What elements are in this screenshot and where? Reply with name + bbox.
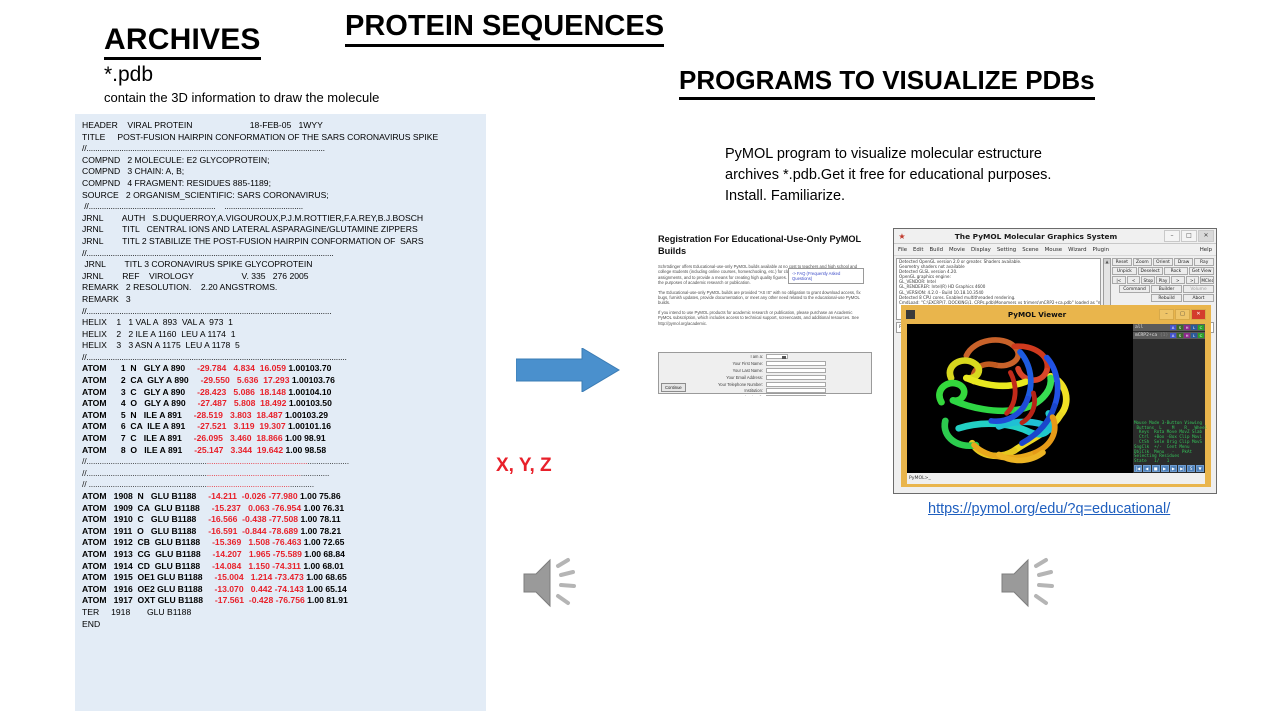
menu-setting[interactable]: Setting bbox=[997, 247, 1016, 253]
viewer-status-prompt[interactable]: PyMOL>_ bbox=[907, 473, 1205, 484]
object-toggle-h[interactable]: H bbox=[1184, 333, 1190, 338]
form-field-label: Comments (optional): bbox=[659, 395, 766, 396]
pdb-line: TER 1918 GLU B1188 bbox=[75, 607, 486, 619]
pdb-line: ATOM 1908 N GLU B1188 -14.211 -0.026 -77… bbox=[75, 491, 486, 503]
object-toggle-c[interactable]: C bbox=[1198, 325, 1204, 330]
pdb-line: ATOM 1910 C GLU B1188 -16.566 -0.438 -77… bbox=[75, 514, 486, 526]
pdb-line: REMARK 2 RESOLUTION. 2.20 ANGSTROMS. bbox=[75, 282, 486, 294]
pdb-line: ATOM 1 N GLY A 890 -29.784 4.834 16.059 … bbox=[75, 363, 486, 375]
pdb-line: HELIX 3 3 ASN A 1175 LEU A 1178 5 bbox=[75, 340, 486, 352]
pdb-atom-prefix: ATOM 3 C GLY A 890 bbox=[82, 387, 192, 397]
pdb-line: ATOM 6 CA ILE A 891 -27.521 3.119 19.307… bbox=[75, 421, 486, 433]
pdb-coordinates: -26.095 3.460 18.866 bbox=[189, 433, 283, 443]
form-text-input[interactable] bbox=[766, 395, 826, 396]
pdb-extension-label: *.pdb bbox=[104, 63, 153, 86]
pdb-line: // .....................................… bbox=[75, 479, 486, 491]
form-text-input[interactable] bbox=[766, 388, 826, 393]
pdb-atom-prefix: ATOM 6 CA ILE A 891 bbox=[82, 421, 192, 431]
registration-form-row: Your Last Name: bbox=[659, 368, 871, 374]
registration-title: Registration For Educational-Use-Only Py… bbox=[658, 234, 873, 257]
pdb-coordinates: -17.561 -0.428 -76.756 bbox=[210, 595, 305, 605]
pymol-button-get-view[interactable]: Get View bbox=[1189, 267, 1214, 275]
pymol-registration-screenshot: Registration For Educational-Use-Only Py… bbox=[625, 226, 891, 396]
menu-movie[interactable]: Movie bbox=[949, 247, 965, 253]
registration-paragraph-3: If you intend to use PyMOL products for … bbox=[658, 310, 863, 326]
object-toggle-a[interactable]: A bbox=[1170, 333, 1176, 338]
object-row[interactable]: allASHLC bbox=[1133, 324, 1205, 331]
pdb-line: REMARK 3 bbox=[75, 294, 486, 306]
viewer-window-controls[interactable]: – □ ✕ bbox=[1159, 309, 1206, 320]
pdb-atom-prefix: ATOM 1 N GLY A 890 bbox=[82, 363, 192, 373]
pdb-atom-prefix: ATOM 1911 O GLU B1188 bbox=[82, 526, 203, 536]
pdb-atom-prefix: ATOM 7 C ILE A 891 bbox=[82, 433, 189, 443]
maximize-icon[interactable]: □ bbox=[1181, 230, 1197, 242]
pdb-atom-prefix: ATOM 2 CA GLY A 890 bbox=[82, 375, 196, 385]
close-icon[interactable]: ✕ bbox=[1198, 230, 1214, 242]
viewer-titlebar: PyMOL Viewer – □ ✕ bbox=[904, 308, 1208, 321]
object-name: all bbox=[1133, 325, 1170, 330]
separator-dots-red: ........................................… bbox=[207, 468, 301, 478]
registration-form-row: I am a: bbox=[659, 354, 871, 360]
form-text-input[interactable] bbox=[766, 382, 826, 387]
pymol-button-play[interactable]: Play bbox=[1156, 276, 1170, 284]
pdb-line: JRNL AUTH S.DUQUERROY,A.VIGOUROUX,P.J.M.… bbox=[75, 213, 486, 225]
pdb-atom-suffix: 1.00 98.91 bbox=[283, 433, 326, 443]
flow-arrow bbox=[516, 348, 620, 392]
pdb-coordinates: -29.550 5.636 17.293 bbox=[196, 375, 290, 385]
viewer-title: PyMOL Viewer bbox=[915, 310, 1159, 319]
registration-form-row: Your First Name: bbox=[659, 361, 871, 367]
pdb-line: TITLE POST-FUSION HAIRPIN CONFORMATION O… bbox=[75, 132, 486, 144]
prev-frame-icon[interactable]: ◀ bbox=[1143, 465, 1151, 472]
pdb-line: JRNL REF VIROLOGY V. 335 276 2005 bbox=[75, 271, 486, 283]
separator-dots: //......................................… bbox=[82, 468, 207, 478]
play-icon[interactable]: ▶ bbox=[1161, 465, 1169, 472]
pdb-atom-suffix: 1.00 68.65 bbox=[304, 572, 347, 582]
archives-subtitle: contain the 3D information to draw the m… bbox=[104, 90, 379, 106]
pdb-line: ATOM 1914 CD GLU B1188 -14.084 1.150 -74… bbox=[75, 561, 486, 573]
pymol-viewer-window: PyMOL Viewer – □ ✕ bbox=[901, 305, 1211, 487]
settings-icon[interactable]: S bbox=[1187, 465, 1195, 472]
pymol-window-title: The PyMOL Molecular Graphics System bbox=[908, 232, 1164, 241]
role-select[interactable] bbox=[766, 354, 788, 359]
pdb-line: HELIX 1 1 VAL A 893 VAL A 973 1 bbox=[75, 317, 486, 329]
pdb-coordinates: -28.519 3.803 18.487 bbox=[189, 410, 283, 420]
menu-mouse[interactable]: Mouse bbox=[1045, 247, 1063, 253]
pdb-atom-suffix: 1.00103.29 bbox=[283, 410, 328, 420]
pdb-line: ATOM 1911 O GLU B1188 -16.591 -0.844 -78… bbox=[75, 526, 486, 538]
pymol-button-rebuild[interactable]: Rebuild bbox=[1151, 294, 1182, 302]
object-toggle-h[interactable]: H bbox=[1184, 325, 1190, 330]
pdb-line: HELIX 2 2 ILE A 1160 LEU A 1174 1 bbox=[75, 329, 486, 341]
pdb-line: //......................................… bbox=[75, 306, 486, 318]
registration-form-row: Your Telephone Number: bbox=[659, 381, 871, 387]
pdb-line: HEADER VIRAL PROTEIN 18-FEB-05 1WYY bbox=[75, 120, 486, 132]
pdb-coordinates: -14.207 1.965 -75.589 bbox=[208, 549, 302, 559]
pdb-line: //......................................… bbox=[75, 456, 486, 468]
pymol-button-volume[interactable]: Volume bbox=[1183, 285, 1214, 293]
pymol-button-gt[interactable]: >| bbox=[1186, 276, 1200, 284]
minimize-icon[interactable]: – bbox=[1164, 230, 1180, 242]
button-row: |<<StopPlay>>|MClear bbox=[1112, 276, 1214, 284]
object-toggle-l[interactable]: L bbox=[1191, 333, 1197, 338]
mouse-mode-help: Mouse Mode 3-Button Viewing Buttons L M … bbox=[1134, 421, 1204, 464]
faq-link[interactable]: -> FAQ (Frequently Asked Questions) bbox=[788, 268, 864, 284]
pdb-atom-suffix: 1.00 65.14 bbox=[304, 584, 347, 594]
registration-paragraph-2: The Educational-use-only PyMOL builds ar… bbox=[658, 290, 863, 306]
separator-dots-red: ...................................... bbox=[207, 479, 290, 489]
pdb-atom-prefix: ATOM 4 O GLY A 890 bbox=[82, 398, 193, 408]
pymol-button-command[interactable]: Command bbox=[1119, 285, 1150, 293]
pdb-line: ATOM 3 C GLY A 890 -28.423 5.086 18.148 … bbox=[75, 387, 486, 399]
pdb-atom-suffix: 1.00 98.58 bbox=[283, 445, 326, 455]
pdb-line: JRNL TITL 2 STABILIZE THE POST-FUSION HA… bbox=[75, 236, 486, 248]
pdb-line: ATOM 1912 CB GLU B1188 -15.369 1.508 -76… bbox=[75, 537, 486, 549]
pdb-atom-suffix: 1.00103.50 bbox=[286, 398, 331, 408]
pdb-line: COMPND 3 CHAIN: A, B; bbox=[75, 166, 486, 178]
pdb-atom-prefix: ATOM 1912 CB GLU B1188 bbox=[82, 537, 207, 547]
pymol-button-[interactable]: |< bbox=[1112, 276, 1126, 284]
pymol-logo-icon: ★ bbox=[896, 231, 908, 242]
pdb-coordinates: -29.784 4.834 16.059 bbox=[192, 363, 286, 373]
speaker-icon-right[interactable] bbox=[996, 552, 1068, 614]
registration-form[interactable]: I am a:Your First Name:Your Last Name:Yo… bbox=[658, 352, 872, 394]
separator-dots: // .....................................… bbox=[82, 479, 207, 489]
object-row[interactable]: mCRP2+ca (1)ASHLC bbox=[1133, 332, 1205, 339]
molecule-render-canvas[interactable] bbox=[907, 324, 1133, 473]
pdb-atom-suffix: 1.00 76.31 bbox=[301, 503, 344, 513]
menu-file[interactable]: File bbox=[898, 247, 907, 253]
pymol-titlebar: ★ The PyMOL Molecular Graphics System – … bbox=[894, 229, 1216, 244]
pymol-button-draw[interactable]: Draw bbox=[1174, 258, 1194, 266]
pdb-coordinates: -16.591 -0.844 -78.689 bbox=[203, 526, 298, 536]
pdb-atom-prefix: ATOM 1914 CD GLU B1188 bbox=[82, 561, 207, 571]
pdb-line: //......................................… bbox=[75, 201, 486, 213]
pdb-atom-prefix: ATOM 1913 CG GLU B1188 bbox=[82, 549, 208, 559]
pdb-line: //......................................… bbox=[75, 468, 486, 480]
pdb-atom-suffix: 1.00103.76 bbox=[289, 375, 334, 385]
pdb-line: SOURCE 2 ORGANISM_SCIENTIFIC: SARS CORON… bbox=[75, 190, 486, 202]
object-toggles[interactable]: ASHLC bbox=[1170, 333, 1204, 338]
form-field-label: I am a: bbox=[659, 354, 766, 359]
viewer-maximize-icon[interactable]: □ bbox=[1175, 309, 1190, 320]
pdb-atom-suffix: 1.00103.70 bbox=[286, 363, 331, 373]
pdb-coordinates: -15.237 0.063 -76.954 bbox=[207, 503, 301, 513]
button-row: UnpickDeselectRockGet View bbox=[1112, 267, 1214, 275]
pdb-line: ATOM 2 CA GLY A 890 -29.550 5.636 17.293… bbox=[75, 375, 486, 387]
pdb-atom-suffix: 1.00 68.84 bbox=[302, 549, 345, 559]
object-toggle-a[interactable]: A bbox=[1170, 325, 1176, 330]
programs-to-visualize-heading: PROGRAMS TO VISUALIZE PDBs bbox=[679, 66, 1095, 100]
registration-form-row: Comments (optional): bbox=[659, 395, 871, 396]
pdb-atom-suffix: 1.00 81.91 bbox=[305, 595, 348, 605]
form-text-input[interactable] bbox=[766, 361, 826, 366]
viewer-body: allASHLCmCRP2+ca (1)ASHLC Mouse Mode 3-B… bbox=[907, 324, 1205, 473]
pymol-button-[interactable]: < bbox=[1127, 276, 1141, 284]
pdb-line: COMPND 2 MOLECULE: E2 GLYCOPROTEIN; bbox=[75, 155, 486, 167]
pdb-coordinates: -13.070 0.442 -74.143 bbox=[210, 584, 304, 594]
pymol-button-mclear[interactable]: MClear bbox=[1200, 276, 1214, 284]
pdb-line: //......................................… bbox=[75, 352, 486, 364]
pdb-line: ATOM 1913 CG GLU B1188 -14.207 1.965 -75… bbox=[75, 549, 486, 561]
pdb-coordinates: -28.423 5.086 18.148 bbox=[192, 387, 286, 397]
pdb-coordinates: -16.566 -0.438 -77.508 bbox=[203, 514, 298, 524]
pdb-coordinates: -15.369 1.508 -76.463 bbox=[207, 537, 301, 547]
object-toggle-c[interactable]: C bbox=[1198, 333, 1204, 338]
pdb-file-panel: HEADER VIRAL PROTEIN 18-FEB-05 1WYYTITLE… bbox=[75, 114, 486, 711]
viewer-minimize-icon[interactable]: – bbox=[1159, 309, 1174, 320]
pdb-atom-suffix: 1.00104.10 bbox=[286, 387, 331, 397]
pymol-description-text: PyMOL program to visualize molecular est… bbox=[725, 144, 1055, 207]
object-toggle-l[interactable]: L bbox=[1191, 325, 1197, 330]
protein-sequences-heading: PROTEIN SEQUENCES bbox=[345, 11, 664, 47]
last-frame-icon[interactable]: ▶| bbox=[1178, 465, 1186, 472]
pymol-button-builder[interactable]: Builder bbox=[1151, 285, 1182, 293]
pdb-line: END bbox=[75, 619, 486, 631]
pymol-button-[interactable]: > bbox=[1171, 276, 1185, 284]
pdb-line: ATOM 7 C ILE A 891 -26.095 3.460 18.866 … bbox=[75, 433, 486, 445]
pdb-atom-prefix: ATOM 1916 OE2 GLU B1188 bbox=[82, 584, 210, 594]
pdb-atom-suffix: 1.00 72.65 bbox=[301, 537, 344, 547]
pdb-atom-prefix: ATOM 8 O ILE A 891 bbox=[82, 445, 189, 455]
pdb-atom-prefix: ATOM 1910 C GLU B1188 bbox=[82, 514, 203, 524]
pdb-line: JRNL TITL 3 CORONAVIRUS SPIKE GLYCOPROTE… bbox=[75, 259, 486, 271]
stop-icon[interactable]: ■ bbox=[1152, 465, 1160, 472]
registration-form-row: Your Email Address: bbox=[659, 375, 871, 381]
pdb-atom-suffix: 1.00 78.11 bbox=[298, 514, 341, 524]
pdb-atom-prefix: ATOM 5 N ILE A 891 bbox=[82, 410, 189, 420]
menu-edit[interactable]: Edit bbox=[913, 247, 923, 253]
pymol-button-deselect[interactable]: Deselect bbox=[1138, 267, 1163, 275]
pdb-coordinates: -27.487 5.808 18.492 bbox=[193, 398, 287, 408]
pdb-line: //......................................… bbox=[75, 143, 486, 155]
speaker-icon-left[interactable] bbox=[518, 552, 590, 614]
pdb-atom-prefix: ATOM 1917 OXT GLU B1188 bbox=[82, 595, 210, 605]
pdb-atom-prefix: ATOM 1915 OE1 GLU B1188 bbox=[82, 572, 210, 582]
pymol-button-orient[interactable]: Orient bbox=[1153, 258, 1173, 266]
object-toggles[interactable]: ASHLC bbox=[1170, 325, 1204, 330]
scroll-up-icon[interactable]: ▲ bbox=[1104, 259, 1110, 264]
form-text-input[interactable] bbox=[766, 375, 826, 380]
form-text-input[interactable] bbox=[766, 368, 826, 373]
object-name: mCRP2+ca (1) bbox=[1133, 333, 1170, 338]
protein-cartoon-render bbox=[907, 324, 1133, 473]
viewer-object-panel[interactable]: allASHLCmCRP2+ca (1)ASHLC Mouse Mode 3-B… bbox=[1133, 324, 1205, 473]
menu-plugin[interactable]: Plugin bbox=[1093, 247, 1110, 253]
pdb-atom-suffix: 1.00 75.86 bbox=[298, 491, 341, 501]
pdb-line: ATOM 1915 OE1 GLU B1188 -15.004 1.214 -7… bbox=[75, 572, 486, 584]
pdb-atom-prefix: ATOM 1908 N GLU B1188 bbox=[82, 491, 203, 501]
menu-help[interactable]: Help bbox=[1200, 247, 1212, 253]
menu-display[interactable]: Display bbox=[971, 247, 991, 253]
pdb-atom-prefix: ATOM 1909 CA GLU B1188 bbox=[82, 503, 207, 513]
object-toggle-s[interactable]: S bbox=[1177, 325, 1183, 330]
pdb-line: //......................................… bbox=[75, 248, 486, 260]
pymol-button-rock[interactable]: Rock bbox=[1164, 267, 1189, 275]
pymol-button-unpick[interactable]: Unpick bbox=[1112, 267, 1137, 275]
pdb-line: COMPND 4 FRAGMENT: RESIDUES 885-1189; bbox=[75, 178, 486, 190]
form-field-label: Your Email Address: bbox=[659, 375, 766, 380]
pdb-atom-suffix: 1.00 68.01 bbox=[301, 561, 344, 571]
pdb-line: ATOM 4 O GLY A 890 -27.487 5.808 18.492 … bbox=[75, 398, 486, 410]
separator-dots-red: ........................................… bbox=[207, 456, 308, 466]
next-frame-icon[interactable]: ▶ bbox=[1170, 465, 1178, 472]
menu-scene[interactable]: Scene bbox=[1022, 247, 1038, 253]
separator-dots: ................... bbox=[307, 456, 349, 466]
registration-form-row: Institution: bbox=[659, 388, 871, 394]
pdb-line: ATOM 8 O ILE A 891 -25.147 3.344 19.642 … bbox=[75, 445, 486, 457]
object-toggle-s[interactable]: S bbox=[1177, 333, 1183, 338]
viewer-app-icon bbox=[906, 310, 915, 319]
pdb-line: ATOM 1916 OE2 GLU B1188 -13.070 0.442 -7… bbox=[75, 584, 486, 596]
separator-dots: ............. bbox=[301, 468, 329, 478]
xyz-label: X, Y, Z bbox=[496, 455, 552, 477]
archives-heading: ARCHIVES bbox=[104, 24, 261, 60]
separator-dots: ........... bbox=[290, 479, 314, 489]
pymol-menubar[interactable]: FileEditBuildMovieDisplaySettingSceneMou… bbox=[894, 244, 1216, 256]
pdb-line: ATOM 1917 OXT GLU B1188 -17.561 -0.428 -… bbox=[75, 595, 486, 607]
button-row: CommandBuilderVolume bbox=[1112, 285, 1214, 293]
pymol-button-ray[interactable]: Ray bbox=[1194, 258, 1214, 266]
window-controls[interactable]: – □ ✕ bbox=[1164, 230, 1214, 242]
pdb-coordinates: -14.084 1.150 -74.311 bbox=[207, 561, 301, 571]
pymol-button-stop[interactable]: Stop bbox=[1141, 276, 1155, 284]
separator-dots: //......................................… bbox=[82, 456, 207, 466]
form-field-label: Your Last Name: bbox=[659, 368, 766, 373]
pdb-coordinates: -15.004 1.214 -73.473 bbox=[210, 572, 304, 582]
pymol-button-abort[interactable]: Abort bbox=[1183, 294, 1214, 302]
menu-wizard[interactable]: Wizard bbox=[1068, 247, 1086, 253]
pdb-line: ATOM 5 N ILE A 891 -28.519 3.803 18.487 … bbox=[75, 410, 486, 422]
button-row: RebuildAbort bbox=[1112, 294, 1214, 302]
object-list[interactable]: allASHLCmCRP2+ca (1)ASHLC bbox=[1133, 324, 1205, 339]
pdb-coordinates: -27.521 3.119 19.307 bbox=[192, 421, 285, 431]
menu-build[interactable]: Build bbox=[929, 247, 943, 253]
form-field-label: Your First Name: bbox=[659, 361, 766, 366]
pdb-line: ATOM 1909 CA GLU B1188 -15.237 0.063 -76… bbox=[75, 503, 486, 515]
continue-button[interactable]: Continue bbox=[661, 383, 686, 392]
viewer-close-icon[interactable]: ✕ bbox=[1191, 309, 1206, 320]
first-frame-icon[interactable]: |◀ bbox=[1134, 465, 1142, 472]
pdb-coordinates: -14.211 -0.026 -77.980 bbox=[203, 491, 297, 501]
pymol-button-zoom[interactable]: Zoom bbox=[1133, 258, 1153, 266]
pdb-coordinates: -25.147 3.344 19.642 bbox=[189, 445, 283, 455]
button-row: ResetZoomOrientDrawRay bbox=[1112, 258, 1214, 266]
pymol-application-window: ★ The PyMOL Molecular Graphics System – … bbox=[893, 228, 1217, 494]
pymol-edu-link[interactable]: https://pymol.org/edu/?q=educational/ bbox=[928, 501, 1170, 517]
pymol-button-reset[interactable]: Reset bbox=[1112, 258, 1132, 266]
pdb-line: JRNL TITL CENTRAL IONS AND LATERAL ASPAR… bbox=[75, 224, 486, 236]
dropdown-icon[interactable]: ▼ bbox=[1196, 465, 1204, 472]
movie-playbar[interactable]: |◀ ◀ ■ ▶ ▶ ▶| S ▼ bbox=[1134, 465, 1204, 472]
pdb-atom-suffix: 1.00101.16 bbox=[286, 421, 331, 431]
pdb-atom-suffix: 1.00 78.21 bbox=[298, 526, 341, 536]
